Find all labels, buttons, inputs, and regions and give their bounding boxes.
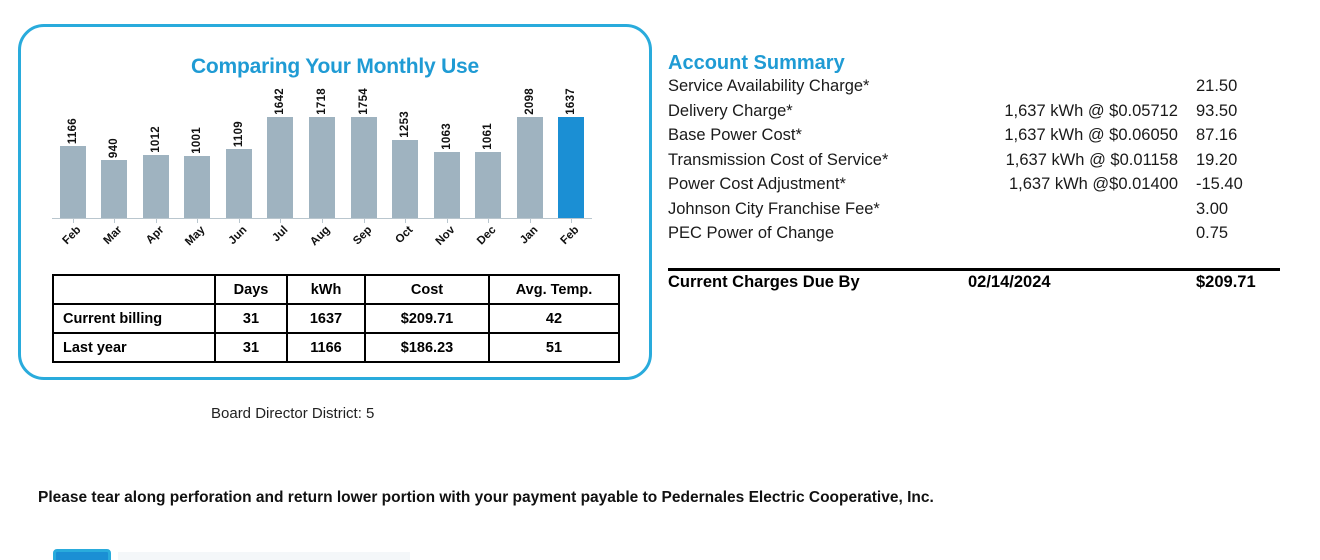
summary-total-divider xyxy=(668,268,1280,271)
account-summary-line: Delivery Charge*1,637 kWh @ $0.0571293.5… xyxy=(668,102,1288,127)
bar-value-label: 1642 xyxy=(274,88,286,115)
column-header-days: Days xyxy=(215,275,287,304)
account-summary-line: Base Power Cost*1,637 kWh @ $0.0605087.1… xyxy=(668,126,1288,151)
table-corner-cell xyxy=(53,275,215,304)
account-summary-line: Power Cost Adjustment*1,637 kWh @$0.0140… xyxy=(668,175,1288,200)
bar-value-label: 1061 xyxy=(482,123,494,150)
row-label-current-billing: Current billing xyxy=(53,304,215,333)
account-summary-line: PEC Power of Change0.75 xyxy=(668,224,1288,249)
table-row: Current billing 31 1637 $209.71 42 xyxy=(53,304,619,333)
axis-tick xyxy=(114,219,115,223)
monthly-use-bar-chart: 1166940101210011109164217181754125310631… xyxy=(52,88,592,218)
stub-logo-mark xyxy=(53,549,111,560)
account-summary: Account Summary Service Availability Cha… xyxy=(668,52,1288,249)
bar-column: 1718 xyxy=(303,88,342,218)
bar-column: 1637 xyxy=(552,88,591,218)
charge-amount: 21.50 xyxy=(1196,77,1237,96)
charge-description: Base Power Cost* xyxy=(668,126,802,145)
column-header-cost: Cost xyxy=(365,275,489,304)
bar-value-label: 1109 xyxy=(233,121,245,147)
bar-value-label: 1253 xyxy=(399,111,411,138)
account-summary-line: Johnson City Franchise Fee*3.00 xyxy=(668,200,1288,225)
account-summary-lines: Service Availability Charge*21.50Deliver… xyxy=(668,77,1288,249)
table-row: Last year 31 1166 $186.23 51 xyxy=(53,333,619,362)
bar-column: 1063 xyxy=(427,88,466,218)
current-charges-total-row: Current Charges Due By 02/14/2024 $209.7… xyxy=(668,273,1288,299)
axis-tick xyxy=(530,219,531,223)
column-header-kwh: kWh xyxy=(287,275,365,304)
bar-column: 1754 xyxy=(344,88,383,218)
stub-address-block xyxy=(118,552,410,560)
column-header-avg-temp: Avg. Temp. xyxy=(489,275,619,304)
charge-rate: 1,637 kWh @ $0.01158 xyxy=(848,151,1178,170)
cell-current-cost: $209.71 xyxy=(365,304,489,333)
bar xyxy=(184,156,210,218)
total-label: Current Charges Due By xyxy=(668,273,860,292)
total-due-date: 02/14/2024 xyxy=(968,273,1051,292)
axis-tick xyxy=(322,219,323,223)
charge-description: Delivery Charge* xyxy=(668,102,793,121)
charge-amount: 87.16 xyxy=(1196,126,1237,145)
axis-tick xyxy=(364,219,365,223)
axis-tick xyxy=(73,219,74,223)
bar-column: 940 xyxy=(95,88,134,218)
charge-amount: -15.40 xyxy=(1196,175,1243,194)
bar xyxy=(351,117,377,218)
cell-current-kwh: 1637 xyxy=(287,304,365,333)
chart-title: Comparing Your Monthly Use xyxy=(21,55,649,79)
charge-description: Johnson City Franchise Fee* xyxy=(668,200,880,219)
bar xyxy=(267,117,293,218)
bar-column: 1109 xyxy=(219,88,258,218)
bar-highlighted xyxy=(558,117,584,218)
axis-tick xyxy=(488,219,489,223)
bar xyxy=(434,152,460,218)
axis-tick xyxy=(280,219,281,223)
charge-description: Power Cost Adjustment* xyxy=(668,175,846,194)
bar-column: 1253 xyxy=(386,88,425,218)
board-director-district: Board Director District: 5 xyxy=(211,405,374,422)
charge-amount: 93.50 xyxy=(1196,102,1237,121)
bill-page: Comparing Your Monthly Use 1166940101210… xyxy=(0,0,1320,560)
charge-description: Service Availability Charge* xyxy=(668,77,869,96)
bar-column: 1012 xyxy=(136,88,175,218)
axis-tick xyxy=(239,219,240,223)
cell-current-avg-temp: 42 xyxy=(489,304,619,333)
charge-description: PEC Power of Change xyxy=(668,224,834,243)
axis-tick xyxy=(197,219,198,223)
cell-current-days: 31 xyxy=(215,304,287,333)
charge-amount: 0.75 xyxy=(1196,224,1228,243)
axis-tick xyxy=(156,219,157,223)
bar-value-label: 1166 xyxy=(67,118,79,144)
bar-value-label: 1001 xyxy=(191,127,203,154)
cell-lastyear-cost: $186.23 xyxy=(365,333,489,362)
cell-lastyear-days: 31 xyxy=(215,333,287,362)
bar-column: 1166 xyxy=(53,88,92,218)
bar-column: 1642 xyxy=(261,88,300,218)
bar xyxy=(392,140,418,218)
bar xyxy=(475,152,501,218)
bar-value-label: 2098 xyxy=(524,88,536,115)
account-summary-line: Service Availability Charge*21.50 xyxy=(668,77,1288,102)
cell-lastyear-kwh: 1166 xyxy=(287,333,365,362)
account-summary-title: Account Summary xyxy=(668,52,1288,75)
charge-amount: 19.20 xyxy=(1196,151,1237,170)
bar-value-label: 1063 xyxy=(441,123,453,150)
axis-tick xyxy=(447,219,448,223)
account-summary-line: Transmission Cost of Service*1,637 kWh @… xyxy=(668,151,1288,176)
bar-value-label: 1637 xyxy=(565,88,577,115)
axis-tick xyxy=(571,219,572,223)
bar xyxy=(226,149,252,218)
bar-column: 2098 xyxy=(510,88,549,218)
bar-value-label: 1012 xyxy=(150,126,162,153)
cell-lastyear-avg-temp: 51 xyxy=(489,333,619,362)
bar-column: 1061 xyxy=(469,88,508,218)
charge-rate: 1,637 kWh @$0.01400 xyxy=(848,175,1178,194)
axis-tick xyxy=(405,219,406,223)
total-amount: $209.71 xyxy=(1196,273,1256,292)
usage-comparison-table: Days kWh Cost Avg. Temp. Current billing… xyxy=(52,274,620,363)
bar-value-label: 940 xyxy=(108,138,120,158)
charge-rate: 1,637 kWh @ $0.05712 xyxy=(848,102,1178,121)
bar xyxy=(60,146,86,218)
bar-column: 1001 xyxy=(178,88,217,218)
bar xyxy=(309,117,335,218)
table-header-row: Days kWh Cost Avg. Temp. xyxy=(53,275,619,304)
bar-value-label: 1718 xyxy=(316,88,328,115)
row-label-last-year: Last year xyxy=(53,333,215,362)
bar xyxy=(101,160,127,218)
bar-value-label: 1754 xyxy=(358,88,370,115)
bar xyxy=(517,117,543,218)
charge-amount: 3.00 xyxy=(1196,200,1228,219)
perforation-note: Please tear along perforation and return… xyxy=(38,489,934,507)
bar xyxy=(143,155,169,218)
charge-rate: 1,637 kWh @ $0.06050 xyxy=(848,126,1178,145)
